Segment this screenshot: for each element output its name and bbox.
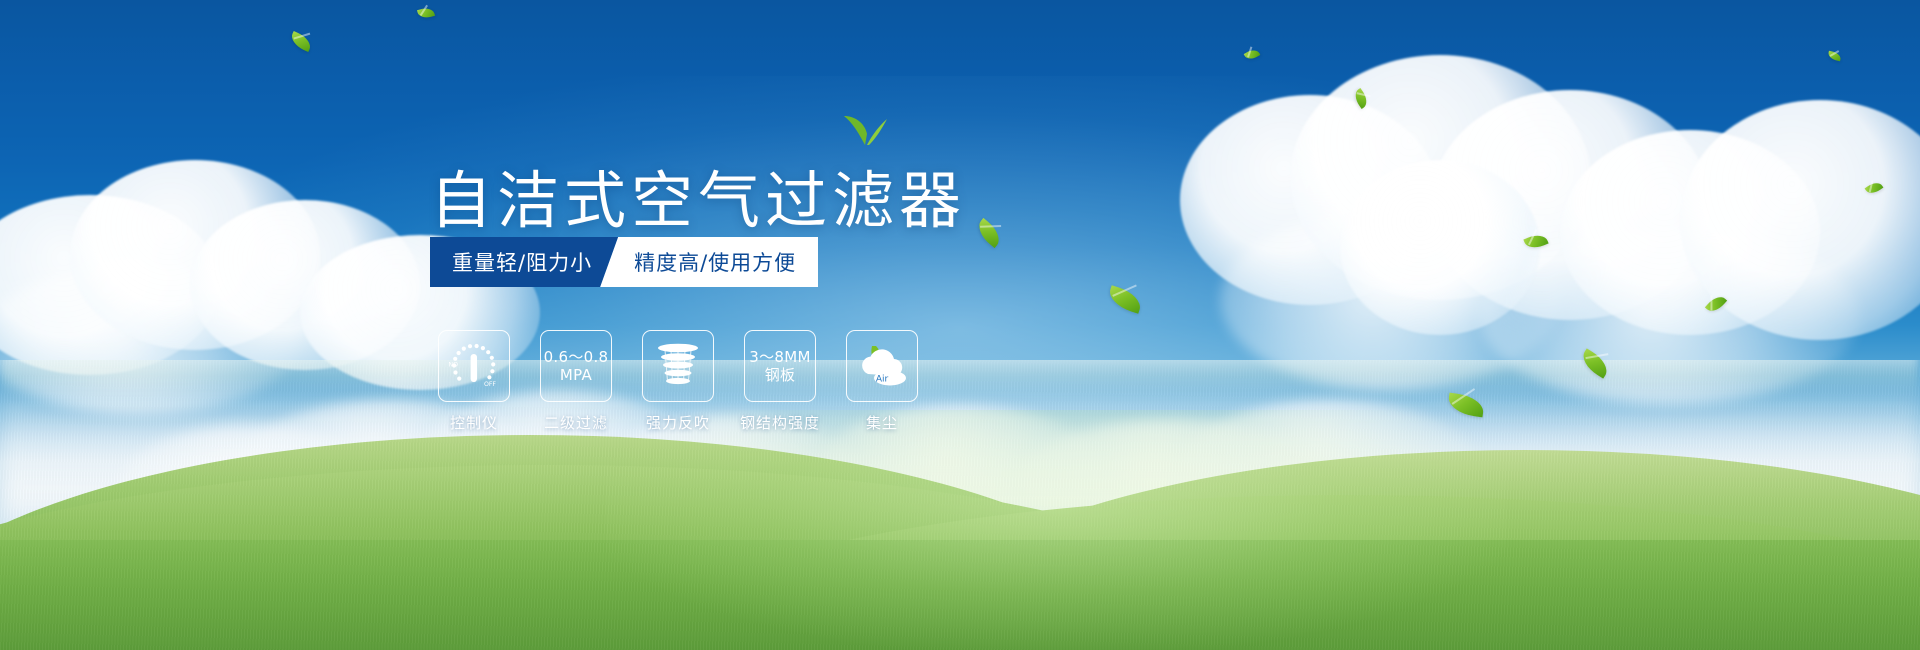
- pressure-text-icon: 0.6～0.8 MPA: [544, 348, 609, 385]
- feature-item-steel-strength[interactable]: 3～8MM 钢板 钢结构强度: [744, 330, 816, 433]
- air-cloud-icon: Air: [854, 342, 910, 390]
- feature-box: 0.6～0.8 MPA: [540, 330, 612, 402]
- product-hero-banner: 自洁式空气过滤器 重量轻/阻力小 精度高/使用方便: [0, 0, 1920, 650]
- grass-landscape: [0, 360, 1920, 650]
- title-leaf-icon: [842, 112, 888, 146]
- page-title: 自洁式空气过滤器: [430, 150, 966, 240]
- feature-box: [642, 330, 714, 402]
- feature-label: 集尘: [866, 412, 898, 433]
- tag-precision-convenience[interactable]: 精度高/使用方便: [600, 237, 818, 287]
- feature-icon-row: NO OFF 控制仪 0.6～0.8 MPA 二级过滤: [438, 330, 918, 433]
- filter-cartridge-icon: [653, 340, 703, 392]
- steel-material: 钢板: [749, 366, 810, 384]
- feature-item-controller[interactable]: NO OFF 控制仪: [438, 330, 510, 433]
- dial-no-label: NO: [449, 362, 459, 369]
- feature-label: 二级过滤: [544, 412, 608, 433]
- air-label: Air: [876, 375, 889, 385]
- grass-foreground: [0, 540, 1920, 650]
- feature-box: Air: [846, 330, 918, 402]
- steel-plate-text-icon: 3～8MM 钢板: [749, 348, 810, 385]
- tag-weight-resistance[interactable]: 重量轻/阻力小: [430, 237, 618, 287]
- dial-gauge-icon: NO OFF: [445, 339, 503, 393]
- feature-label: 强力反吹: [646, 412, 710, 433]
- cloud: [1340, 160, 1540, 335]
- feature-tag-group: 重量轻/阻力小 精度高/使用方便: [430, 237, 818, 287]
- feature-box: NO OFF: [438, 330, 510, 402]
- pressure-unit: MPA: [544, 366, 609, 384]
- feature-box: 3～8MM 钢板: [744, 330, 816, 402]
- feature-label: 钢结构强度: [740, 412, 820, 433]
- feature-item-dust-collection[interactable]: Air 集尘: [846, 330, 918, 433]
- feature-item-backblow[interactable]: 强力反吹: [642, 330, 714, 433]
- horizon-blend: [0, 360, 1920, 396]
- feature-label: 控制仪: [450, 412, 498, 433]
- pressure-range: 0.6～0.8: [544, 348, 609, 366]
- dial-off-label: OFF: [484, 381, 496, 388]
- steel-thickness: 3～8MM: [749, 348, 810, 366]
- feature-item-filtration[interactable]: 0.6～0.8 MPA 二级过滤: [540, 330, 612, 433]
